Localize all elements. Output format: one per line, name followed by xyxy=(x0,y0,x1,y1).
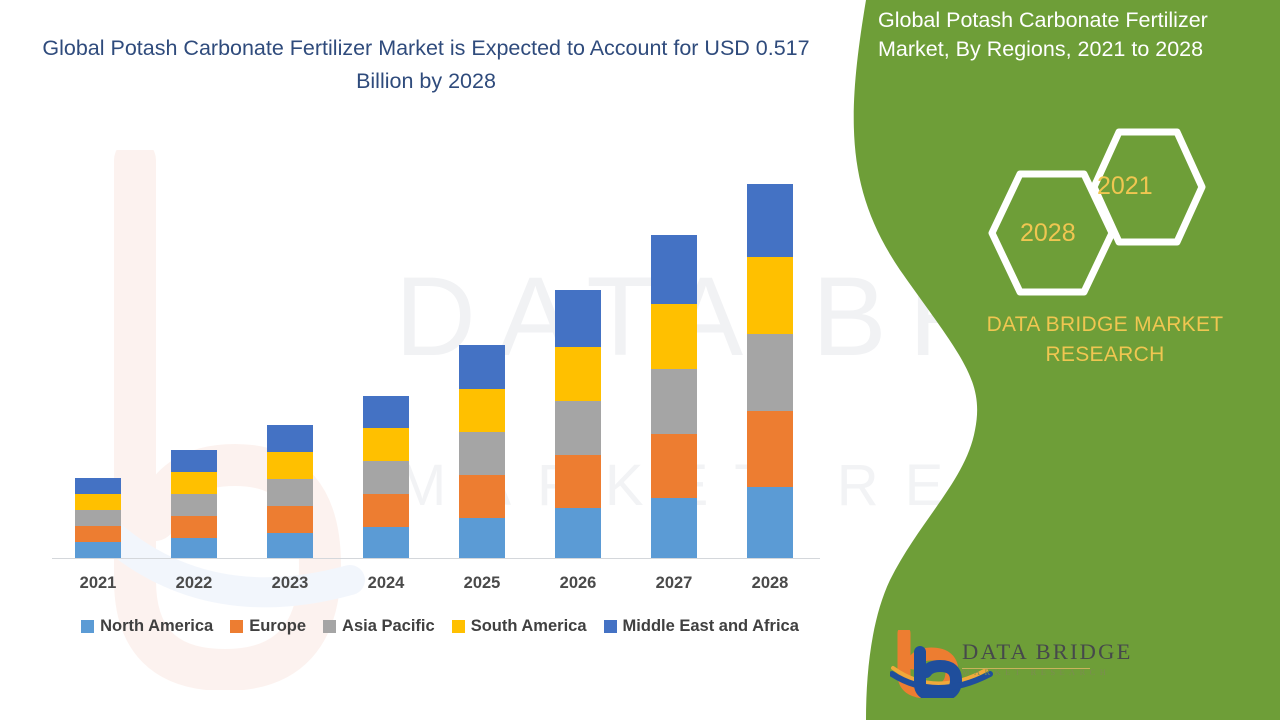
x-axis-label-2025: 2025 xyxy=(437,574,527,593)
bar-segment-middle-east-and-africa xyxy=(651,235,697,304)
bar-segment-middle-east-and-africa xyxy=(459,345,505,389)
bar-segment-south-america xyxy=(555,347,601,401)
legend-swatch-icon xyxy=(81,620,94,633)
legend-swatch-icon xyxy=(452,620,465,633)
chart-region: Global Potash Carbonate Fertilizer Marke… xyxy=(0,0,860,720)
bar-2026 xyxy=(555,290,601,558)
bar-segment-europe xyxy=(747,411,793,487)
bar-segment-europe xyxy=(459,475,505,518)
plot-area: 20212022202320242025202620272028 xyxy=(0,0,860,600)
legend-item[interactable]: South America xyxy=(452,617,587,636)
bar-segment-asia-pacific xyxy=(555,401,601,455)
chart-legend: North AmericaEuropeAsia PacificSouth Ame… xyxy=(52,617,828,636)
legend-label: Middle East and Africa xyxy=(623,617,799,636)
bar-segment-north-america xyxy=(459,518,505,558)
x-axis-label-2028: 2028 xyxy=(725,574,815,593)
bar-segment-south-america xyxy=(363,428,409,461)
hexagon-label-2021: 2021 xyxy=(1097,172,1153,201)
bar-segment-north-america xyxy=(651,498,697,558)
bar-segment-europe xyxy=(363,494,409,527)
bar-segment-south-america xyxy=(459,389,505,432)
bar-segment-south-america xyxy=(75,494,121,510)
legend-label: Europe xyxy=(249,617,306,636)
bar-segment-europe xyxy=(75,526,121,542)
legend-swatch-icon xyxy=(323,620,336,633)
bar-segment-middle-east-and-africa xyxy=(363,396,409,428)
legend-label: South America xyxy=(471,617,587,636)
bar-segment-asia-pacific xyxy=(267,479,313,506)
infographic-canvas: DATA BRIDGE MARKET RESEARCH Global Potas… xyxy=(0,0,1280,720)
bar-segment-middle-east-and-africa xyxy=(171,450,217,472)
bar-segment-middle-east-and-africa xyxy=(75,478,121,494)
bar-2024 xyxy=(363,396,409,558)
x-axis-label-2021: 2021 xyxy=(53,574,143,593)
legend-item[interactable]: Middle East and Africa xyxy=(604,617,799,636)
x-axis-label-2026: 2026 xyxy=(533,574,623,593)
x-axis-label-2022: 2022 xyxy=(149,574,239,593)
legend-label: North America xyxy=(100,617,213,636)
bar-2027 xyxy=(651,235,697,558)
bar-segment-asia-pacific xyxy=(459,432,505,475)
bar-segment-europe xyxy=(555,455,601,508)
bar-segment-asia-pacific xyxy=(171,494,217,516)
bar-segment-north-america xyxy=(363,527,409,558)
bar-2021 xyxy=(75,478,121,558)
bar-segment-south-america xyxy=(267,452,313,479)
bar-segment-south-america xyxy=(747,257,793,334)
bar-2022 xyxy=(171,450,217,558)
bar-segment-north-america xyxy=(747,487,793,558)
x-axis-line xyxy=(52,558,820,559)
legend-item[interactable]: Asia Pacific xyxy=(323,617,435,636)
bar-segment-south-america xyxy=(171,472,217,494)
x-axis-label-2024: 2024 xyxy=(341,574,431,593)
bar-segment-north-america xyxy=(267,533,313,558)
bar-segment-europe xyxy=(171,516,217,538)
x-axis-label-2023: 2023 xyxy=(245,574,335,593)
logo-text: DATA BRIDGE MARKET RESEARCH xyxy=(962,640,1133,677)
bar-segment-middle-east-and-africa xyxy=(555,290,601,347)
hexagon-label-2028: 2028 xyxy=(1020,219,1076,248)
bar-segment-middle-east-and-africa xyxy=(267,425,313,452)
legend-swatch-icon xyxy=(604,620,617,633)
legend-label: Asia Pacific xyxy=(342,617,435,636)
legend-item[interactable]: Europe xyxy=(230,617,306,636)
bar-segment-europe xyxy=(267,506,313,533)
bar-segment-asia-pacific xyxy=(363,461,409,494)
bar-2023 xyxy=(267,425,313,558)
bar-segment-north-america xyxy=(555,508,601,558)
bar-segment-north-america xyxy=(171,538,217,558)
legend-item[interactable]: North America xyxy=(81,617,213,636)
logo-title: DATA BRIDGE xyxy=(962,640,1133,664)
bar-segment-asia-pacific xyxy=(747,334,793,411)
panel-title: Global Potash Carbonate Fertilizer Marke… xyxy=(878,6,1258,64)
legend-swatch-icon xyxy=(230,620,243,633)
bar-2028 xyxy=(747,184,793,558)
logo-divider xyxy=(962,668,1090,669)
bar-2025 xyxy=(459,345,505,558)
bar-segment-middle-east-and-africa xyxy=(747,184,793,257)
bar-segment-asia-pacific xyxy=(651,369,697,434)
brand-name: DATA BRIDGE MARKET RESEARCH xyxy=(955,310,1255,370)
bar-segment-north-america xyxy=(75,542,121,558)
bar-segment-europe xyxy=(651,434,697,498)
bar-segment-asia-pacific xyxy=(75,510,121,526)
bar-segment-south-america xyxy=(651,304,697,369)
x-axis-label-2027: 2027 xyxy=(629,574,719,593)
